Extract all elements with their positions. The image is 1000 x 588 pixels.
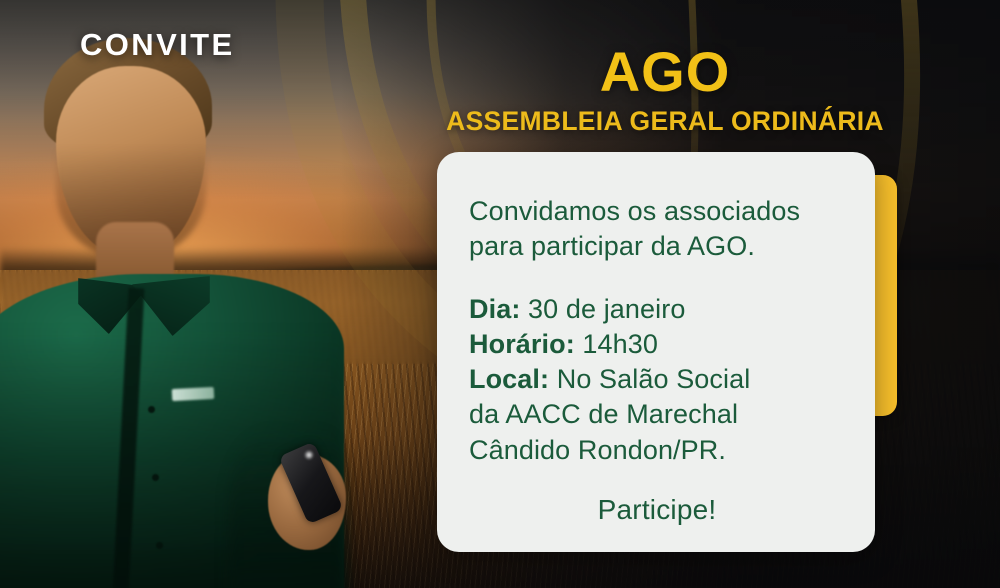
phone-gleam xyxy=(304,450,314,460)
detail-row-horario: Horário: 14h30 xyxy=(469,327,845,362)
detail-label-local: Local: xyxy=(469,364,549,394)
card-details: Dia: 30 de janeiro Horário: 14h30 Local:… xyxy=(469,292,845,467)
detail-label-dia: Dia: xyxy=(469,294,520,324)
card-cta-participe: Participe! xyxy=(469,494,845,526)
info-card: Convidamos os associados para participar… xyxy=(437,152,875,552)
shirt-button xyxy=(156,542,163,549)
detail-row-dia: Dia: 30 de janeiro xyxy=(469,292,845,327)
shirt-button xyxy=(152,474,159,481)
detail-local-line-2: da AACC de Marechal xyxy=(469,397,845,432)
page-subtitle: ASSEMBLEIA GERAL ORDINÁRIA xyxy=(430,106,900,137)
card-lead-line-2: para participar da AGO. xyxy=(469,229,845,264)
shirt-button xyxy=(148,406,155,413)
card-lead-line-1: Convidamos os associados xyxy=(469,194,845,229)
detail-value-dia: 30 de janeiro xyxy=(520,294,685,324)
card-lead-text: Convidamos os associados para participar… xyxy=(469,194,845,264)
title-block: AGO ASSEMBLEIA GERAL ORDINÁRIA xyxy=(430,44,900,137)
detail-row-local: Local: No Salão Social xyxy=(469,362,845,397)
detail-value-local: No Salão Social xyxy=(549,364,750,394)
kicker-convite: CONVITE xyxy=(80,27,235,63)
page-title: AGO xyxy=(430,44,900,100)
detail-local-line-3: Cândido Rondon/PR. xyxy=(469,433,845,468)
detail-value-horario: 14h30 xyxy=(575,329,658,359)
shirt-chest-logo xyxy=(172,387,215,401)
invitation-poster: CONVITE AGO ASSEMBLEIA GERAL ORDINÁRIA C… xyxy=(0,0,1000,588)
person-figure xyxy=(0,26,422,588)
detail-label-horario: Horário: xyxy=(469,329,575,359)
